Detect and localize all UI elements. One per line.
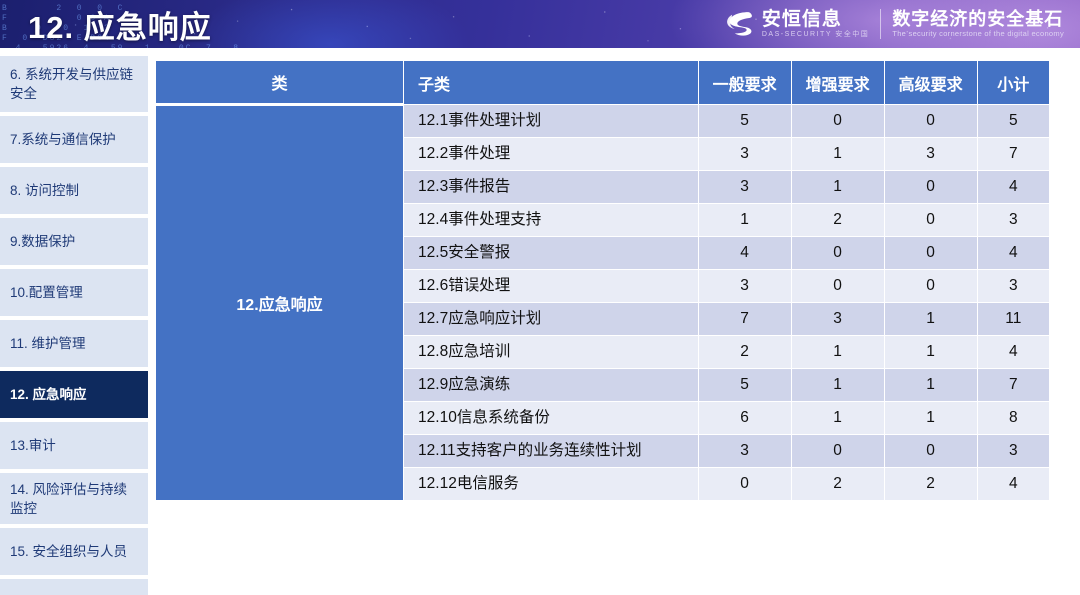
cell-subtotal: 3 bbox=[977, 435, 1049, 468]
cell-advanced: 1 bbox=[884, 402, 977, 435]
cell-subclass: 12.10信息系统备份 bbox=[404, 402, 699, 435]
sidebar-item-label: 10.配置管理 bbox=[10, 283, 83, 302]
sidebar-item-label: 8. 访问控制 bbox=[10, 181, 79, 200]
cell-subclass: 12.5安全警报 bbox=[404, 237, 699, 270]
cell-enhanced: 1 bbox=[791, 138, 884, 171]
col-header-advanced: 高级要求 bbox=[884, 61, 977, 105]
cell-subtotal: 5 bbox=[977, 105, 1049, 138]
requirements-table: 类 子类 一般要求 增强要求 高级要求 小计 12.应急响应12.1事件处理计划… bbox=[155, 60, 1050, 501]
cell-enhanced: 3 bbox=[791, 303, 884, 336]
cell-enhanced: 1 bbox=[791, 171, 884, 204]
sidebar-nav[interactable]: 6. 系统开发与供应链安全7.系统与通信保护8. 访问控制9.数据保护10.配置… bbox=[0, 55, 148, 595]
table-row: 12.应急响应12.1事件处理计划5005 bbox=[156, 105, 1050, 138]
cell-general: 1 bbox=[698, 204, 791, 237]
cell-subclass: 12.4事件处理支持 bbox=[404, 204, 699, 237]
sidebar-item-label: 6. 系统开发与供应链安全 bbox=[10, 65, 138, 103]
col-header-general: 一般要求 bbox=[698, 61, 791, 105]
sidebar-item-13[interactable]: 13.审计 bbox=[0, 421, 148, 469]
cell-enhanced: 1 bbox=[791, 402, 884, 435]
cell-subclass: 12.2事件处理 bbox=[404, 138, 699, 171]
brand-tagline-en: The security cornerstone of the digital … bbox=[892, 29, 1064, 39]
cell-advanced: 0 bbox=[884, 270, 977, 303]
page-title: 12. 应急响应 bbox=[28, 2, 212, 46]
cell-enhanced: 0 bbox=[791, 237, 884, 270]
table-header-row: 类 子类 一般要求 增强要求 高级要求 小计 bbox=[156, 61, 1050, 105]
cell-enhanced: 0 bbox=[791, 105, 884, 138]
brand-tagline: 数字经济的安全基石 The security cornerstone of th… bbox=[892, 9, 1064, 39]
sidebar-item-7[interactable]: 7.系统与通信保护 bbox=[0, 115, 148, 163]
cell-general: 5 bbox=[698, 105, 791, 138]
cell-subclass: 12.7应急响应计划 bbox=[404, 303, 699, 336]
class-cell: 12.应急响应 bbox=[156, 105, 404, 501]
cell-advanced: 0 bbox=[884, 105, 977, 138]
cell-enhanced: 0 bbox=[791, 435, 884, 468]
cell-advanced: 2 bbox=[884, 468, 977, 501]
cell-general: 2 bbox=[698, 336, 791, 369]
cell-advanced: 0 bbox=[884, 171, 977, 204]
brand-name-en: DAS-SECURITY 安全中国 bbox=[762, 30, 869, 39]
sidebar-item-10[interactable]: 10.配置管理 bbox=[0, 268, 148, 316]
cell-subtotal: 4 bbox=[977, 468, 1049, 501]
slide-root: B 2 0 0 C F 0 0 A B 0 0 1 3 F 0 D82 E DO… bbox=[0, 0, 1080, 595]
table-body: 12.应急响应12.1事件处理计划500512.2事件处理313712.3事件报… bbox=[156, 105, 1050, 501]
cell-subclass: 12.6错误处理 bbox=[404, 270, 699, 303]
cell-subtotal: 4 bbox=[977, 171, 1049, 204]
cell-enhanced: 1 bbox=[791, 369, 884, 402]
cell-advanced: 1 bbox=[884, 303, 977, 336]
cell-enhanced: 2 bbox=[791, 204, 884, 237]
cell-general: 3 bbox=[698, 435, 791, 468]
brand-logo-block: 安恒信息 DAS-SECURITY 安全中国 数字经济的安全基石 The sec… bbox=[722, 3, 1064, 45]
cell-advanced: 0 bbox=[884, 435, 977, 468]
requirements-table-wrap: 类 子类 一般要求 增强要求 高级要求 小计 12.应急响应12.1事件处理计划… bbox=[155, 60, 1050, 501]
brand-chinese-name: 安恒信息 DAS-SECURITY 安全中国 bbox=[762, 9, 869, 39]
cell-subclass: 12.11支持客户的业务连续性计划 bbox=[404, 435, 699, 468]
cell-subtotal: 7 bbox=[977, 138, 1049, 171]
cell-subtotal: 8 bbox=[977, 402, 1049, 435]
sidebar-item-label: 12. 应急响应 bbox=[10, 385, 87, 404]
cell-subclass: 12.12电信服务 bbox=[404, 468, 699, 501]
sidebar-item-11[interactable]: 11. 维护管理 bbox=[0, 319, 148, 367]
cell-subclass: 12.1事件处理计划 bbox=[404, 105, 699, 138]
col-header-enhanced: 增强要求 bbox=[791, 61, 884, 105]
cell-subtotal: 3 bbox=[977, 204, 1049, 237]
cell-subtotal: 3 bbox=[977, 270, 1049, 303]
cell-advanced: 0 bbox=[884, 237, 977, 270]
cell-subclass: 12.3事件报告 bbox=[404, 171, 699, 204]
cell-enhanced: 1 bbox=[791, 336, 884, 369]
cell-general: 4 bbox=[698, 237, 791, 270]
cell-subclass: 12.9应急演练 bbox=[404, 369, 699, 402]
cell-advanced: 1 bbox=[884, 336, 977, 369]
sidebar-item-label: 7.系统与通信保护 bbox=[10, 130, 116, 149]
cell-enhanced: 2 bbox=[791, 468, 884, 501]
sidebar-item-12[interactable]: 12. 应急响应 bbox=[0, 370, 148, 418]
cell-subtotal: 4 bbox=[977, 237, 1049, 270]
sidebar-item-label: 9.数据保护 bbox=[10, 232, 75, 251]
sidebar-item-14[interactable]: 14. 风险评估与持续监控 bbox=[0, 472, 148, 524]
cell-subtotal: 4 bbox=[977, 336, 1049, 369]
cell-general: 0 bbox=[698, 468, 791, 501]
cell-general: 3 bbox=[698, 138, 791, 171]
cell-subclass: 12.8应急培训 bbox=[404, 336, 699, 369]
sidebar-item-15[interactable]: 15. 安全组织与人员 bbox=[0, 527, 148, 575]
das-security-swoosh-logo-icon bbox=[722, 7, 756, 41]
cell-general: 3 bbox=[698, 270, 791, 303]
cell-advanced: 0 bbox=[884, 204, 977, 237]
sidebar-item-label: 15. 安全组织与人员 bbox=[10, 542, 127, 561]
sidebar-item-label: 14. 风险评估与持续监控 bbox=[10, 480, 138, 518]
cell-general: 3 bbox=[698, 171, 791, 204]
cell-subtotal: 11 bbox=[977, 303, 1049, 336]
cell-general: 5 bbox=[698, 369, 791, 402]
col-header-subtotal: 小计 bbox=[977, 61, 1049, 105]
cell-general: 7 bbox=[698, 303, 791, 336]
brand-tagline-cn: 数字经济的安全基石 bbox=[892, 9, 1064, 29]
sidebar-item-label: 13.审计 bbox=[10, 436, 56, 455]
cell-subtotal: 7 bbox=[977, 369, 1049, 402]
sidebar-item-16[interactable]: 16. 物理与环境安全 bbox=[0, 578, 148, 595]
col-header-subclass: 子类 bbox=[404, 61, 699, 105]
sidebar-item-9[interactable]: 9.数据保护 bbox=[0, 217, 148, 265]
cell-general: 6 bbox=[698, 402, 791, 435]
cell-advanced: 1 bbox=[884, 369, 977, 402]
sidebar-item-6[interactable]: 6. 系统开发与供应链安全 bbox=[0, 55, 148, 112]
cell-enhanced: 0 bbox=[791, 270, 884, 303]
col-header-class: 类 bbox=[156, 61, 404, 105]
sidebar-item-8[interactable]: 8. 访问控制 bbox=[0, 166, 148, 214]
brand-name-cn: 安恒信息 bbox=[762, 9, 869, 30]
sidebar-item-label: 11. 维护管理 bbox=[10, 334, 86, 353]
brand-divider bbox=[880, 9, 881, 39]
cell-advanced: 3 bbox=[884, 138, 977, 171]
